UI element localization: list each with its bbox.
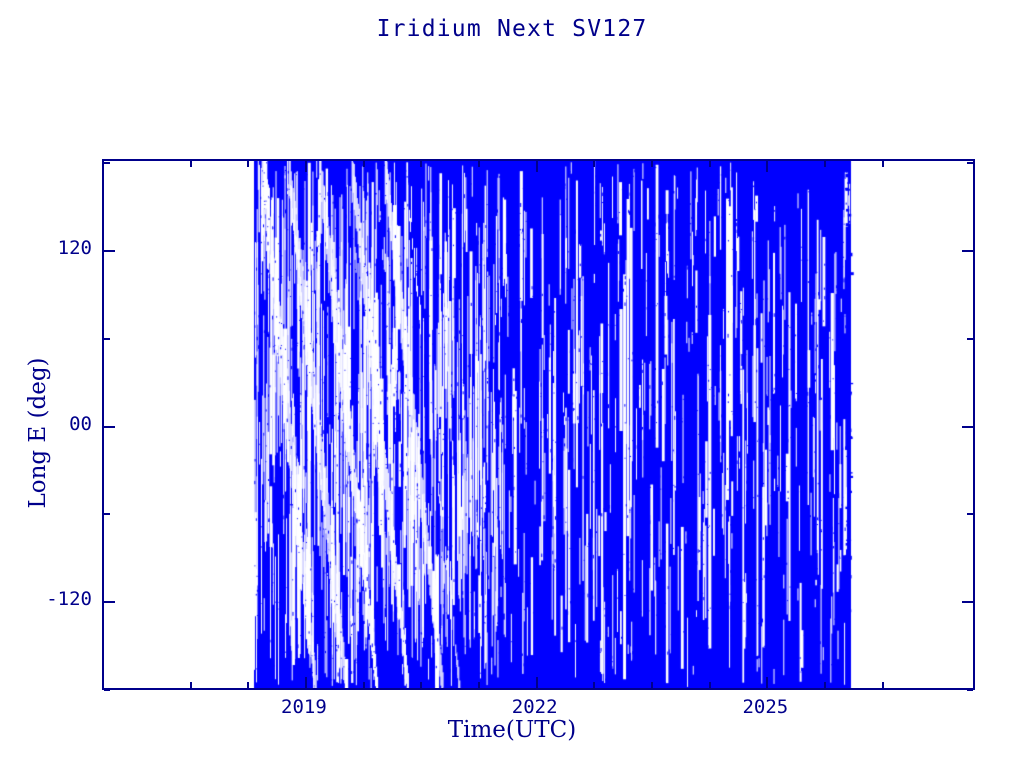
tick-mark-bottom [478,682,480,688]
x-tick-label: 2022 [485,696,585,718]
tick-mark-right [967,689,973,691]
tick-mark-bottom [593,682,595,688]
x-axis-title: Time(UTC) [0,717,1024,743]
tick-mark-top [766,161,768,172]
y-axis-title: Long E (deg) [25,303,51,563]
figure-canvas: Iridium Next SV127 12000-120 20192022202… [0,0,1024,768]
tick-mark-right [967,162,973,164]
tick-mark-top [305,161,307,172]
tick-mark-left [104,162,110,164]
tick-mark-left [104,689,110,691]
y-tick-label: 120 [6,237,92,259]
tick-mark-top [478,161,480,167]
tick-mark-bottom [651,682,653,688]
x-tick-label: 2025 [715,696,815,718]
tick-mark-top [593,161,595,167]
tick-mark-top [190,161,192,167]
tick-mark-bottom [824,682,826,688]
tick-mark-right [962,250,973,252]
tick-mark-bottom [709,682,711,688]
tick-mark-right [962,601,973,603]
tick-mark-top [651,161,653,167]
tick-mark-top [709,161,711,167]
tick-mark-right [967,513,973,515]
tick-mark-top [536,161,538,172]
page-title: Iridium Next SV127 [0,16,1024,42]
tick-mark-bottom [190,682,192,688]
tick-mark-left [104,338,110,340]
tick-mark-bottom [363,682,365,688]
tick-mark-right [967,338,973,340]
x-tick-label: 2019 [254,696,354,718]
tick-mark-top [247,161,249,167]
plot-data-clip [104,161,973,688]
tick-mark-left [104,601,115,603]
tick-mark-top [420,161,422,167]
tick-mark-bottom [420,682,422,688]
tick-mark-bottom [305,677,307,688]
tick-mark-bottom [247,682,249,688]
scatter-series-longitude [104,161,973,688]
y-tick-label: -120 [6,588,92,610]
tick-mark-top [363,161,365,167]
tick-mark-bottom [536,677,538,688]
tick-mark-bottom [882,682,884,688]
plot-area [102,159,975,690]
tick-mark-top [882,161,884,167]
tick-mark-bottom [766,677,768,688]
tick-mark-right [962,426,973,428]
tick-mark-left [104,250,115,252]
tick-mark-top [824,161,826,167]
tick-mark-left [104,513,110,515]
tick-mark-left [104,426,115,428]
